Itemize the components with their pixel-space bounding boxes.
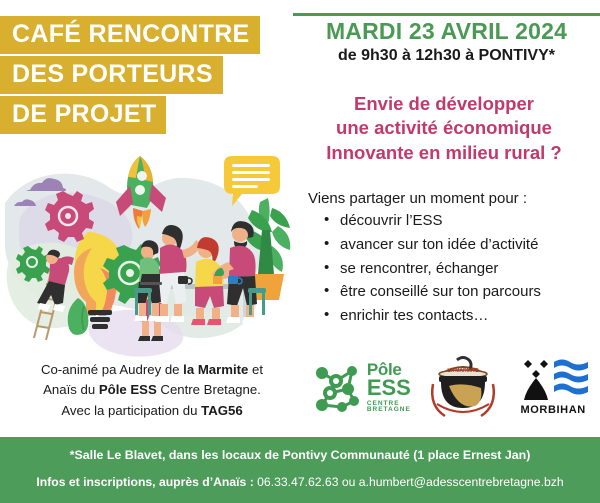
morbihan-flag-icon xyxy=(514,358,592,402)
list-item: avancer sur ton idée d’activité xyxy=(322,236,600,253)
credits-line-3-b: TAG56 xyxy=(201,403,243,418)
pole-ess-line-4: BRETAGNE xyxy=(367,407,411,414)
la-marmite-wordmark: LA MARMITE xyxy=(447,368,479,374)
pitch-line-1: Envie de développer xyxy=(288,92,600,116)
project-collaboration-illustration xyxy=(0,148,300,360)
poster-title-line-3: DE PROJET xyxy=(0,96,166,134)
wave-lines xyxy=(554,360,588,395)
pole-ess-network-icon xyxy=(308,359,364,415)
cooking-pot-icon: LA MARMITE xyxy=(427,354,499,420)
credits-line-3: Avec la participation du TAG56 xyxy=(8,401,296,421)
pole-ess-wordmark: Pôle ESS CENTRE BRETAGNE xyxy=(367,361,411,414)
footer-contact: Infos et inscriptions, auprès d’Anaïs : … xyxy=(0,475,600,489)
credits-line-2: Anaïs du Pôle ESS Centre Bretagne. xyxy=(8,380,296,400)
ermine-tail xyxy=(524,378,548,400)
poster-root: CAFÉ RENCONTRE DES PORTEURS DE PROJET MA… xyxy=(0,0,600,503)
morbihan-logo: MORBIHAN xyxy=(514,358,592,416)
poster-footer: *Salle Le Blavet, dans les locaux de Pon… xyxy=(0,437,600,503)
list-item: être conseillé sur ton parcours xyxy=(322,283,600,300)
credits-line-3-a: Avec la participation du xyxy=(61,403,201,418)
credits-line-1-c: et xyxy=(248,362,263,377)
pole-ess-line-2: ESS xyxy=(367,377,411,399)
la-marmite-logo: LA MARMITE xyxy=(427,354,499,420)
poster-title-line-1: CAFÉ RENCONTRE xyxy=(0,16,260,54)
partner-logos: Pôle ESS CENTRE BRETAGNE LA MARMITE xyxy=(300,352,600,422)
event-pitch: Envie de développer une activité économi… xyxy=(288,92,600,165)
credits-line-1-a: Co-animé pa Audrey de xyxy=(41,362,183,377)
laptop-icon xyxy=(140,274,162,285)
credits-line-1-b: la Marmite xyxy=(183,362,248,377)
pole-ess-logo: Pôle ESS CENTRE BRETAGNE xyxy=(308,359,411,415)
ermine-spots xyxy=(524,360,548,378)
footer-contact-label: Infos et inscriptions, auprès d’Anaïs : xyxy=(36,475,257,489)
chair-icon xyxy=(248,288,266,315)
top-green-rule xyxy=(293,13,600,16)
credits-line-1: Co-animé pa Audrey de la Marmite et xyxy=(8,360,296,380)
credits-text: Co-animé pa Audrey de la Marmite et Anaï… xyxy=(8,360,296,421)
event-time-place: de 9h30 à 12h30 à PONTIVY* xyxy=(293,47,600,65)
pitch-line-3: Innovante en milieu rural ? xyxy=(288,141,600,165)
invitation-intro: Viens partager un moment pour : xyxy=(308,190,527,207)
list-item: découvrir l’ESS xyxy=(322,212,600,229)
list-item: se rencontrer, échanger xyxy=(322,260,600,277)
credits-line-2-a: Anaïs du xyxy=(43,382,99,397)
pitch-line-2: une activité économique xyxy=(288,116,600,140)
footer-contact-value: 06.33.47.62.63 ou a.humbert@adesscentreb… xyxy=(257,475,563,489)
credits-line-2-c: Centre Bretagne. xyxy=(157,382,261,397)
poster-title-line-2: DES PORTEURS xyxy=(0,56,223,94)
footer-venue: *Salle Le Blavet, dans les locaux de Pon… xyxy=(0,448,600,462)
event-date: MARDI 23 AVRIL 2024 xyxy=(293,18,600,45)
invitation-bullet-list: découvrir l’ESS avancer sur ton idée d’a… xyxy=(322,212,600,331)
list-item: enrichir tes contacts… xyxy=(322,307,600,324)
morbihan-wordmark: MORBIHAN xyxy=(521,404,586,416)
credits-line-2-b: Pôle ESS xyxy=(99,382,157,397)
